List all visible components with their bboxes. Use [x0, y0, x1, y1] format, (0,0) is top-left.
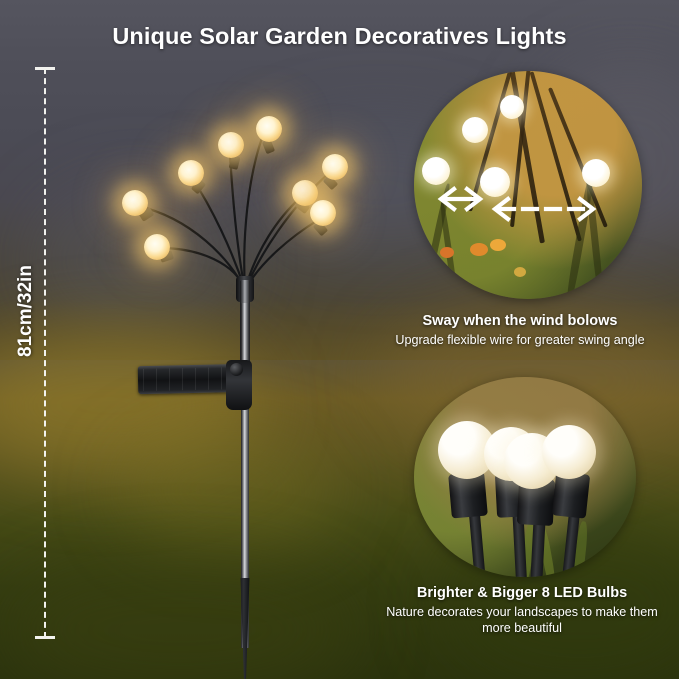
led-bulb	[310, 200, 336, 226]
led-bulb	[462, 117, 488, 143]
product-infographic: Unique Solar Garden Decoratives Lights 8…	[0, 0, 679, 679]
dimension-tick-bottom	[35, 636, 55, 639]
bulb-globe	[542, 425, 596, 479]
feature-image-bulbs	[414, 377, 636, 577]
feature-subtext: Upgrade flexible wire for greater swing …	[370, 332, 670, 348]
led-bulb	[500, 95, 524, 119]
flower	[490, 239, 506, 251]
flower	[470, 243, 488, 256]
led-bulb	[256, 116, 282, 142]
feature-subtext: Nature decorates your landscapes to make…	[372, 604, 672, 636]
feature-image-sway	[414, 71, 642, 299]
feature-heading: Sway when the wind bolows	[370, 313, 670, 329]
feature-caption-sway: Sway when the wind bolows Upgrade flexib…	[370, 313, 670, 348]
led-bulb	[422, 157, 450, 185]
feature-caption-bulbs: Brighter & Bigger 8 LED Bulbs Nature dec…	[372, 585, 672, 636]
main-product-image	[60, 58, 360, 658]
bracket-knob	[230, 363, 243, 376]
led-bulb	[218, 132, 244, 158]
led-bulb	[322, 154, 348, 180]
led-bulb	[480, 167, 510, 197]
page-title: Unique Solar Garden Decoratives Lights	[0, 23, 679, 50]
led-bulb	[144, 234, 170, 260]
dimension-label: 81cm/32in	[15, 251, 37, 371]
led-bulb	[582, 159, 610, 187]
flower	[514, 267, 526, 277]
flower	[440, 247, 454, 258]
dimension-dashed-line	[44, 68, 46, 638]
led-bulb	[178, 160, 204, 186]
led-bulb	[122, 190, 148, 216]
flexible-wire-stems	[60, 58, 360, 658]
feature-heading: Brighter & Bigger 8 LED Bulbs	[372, 585, 672, 601]
